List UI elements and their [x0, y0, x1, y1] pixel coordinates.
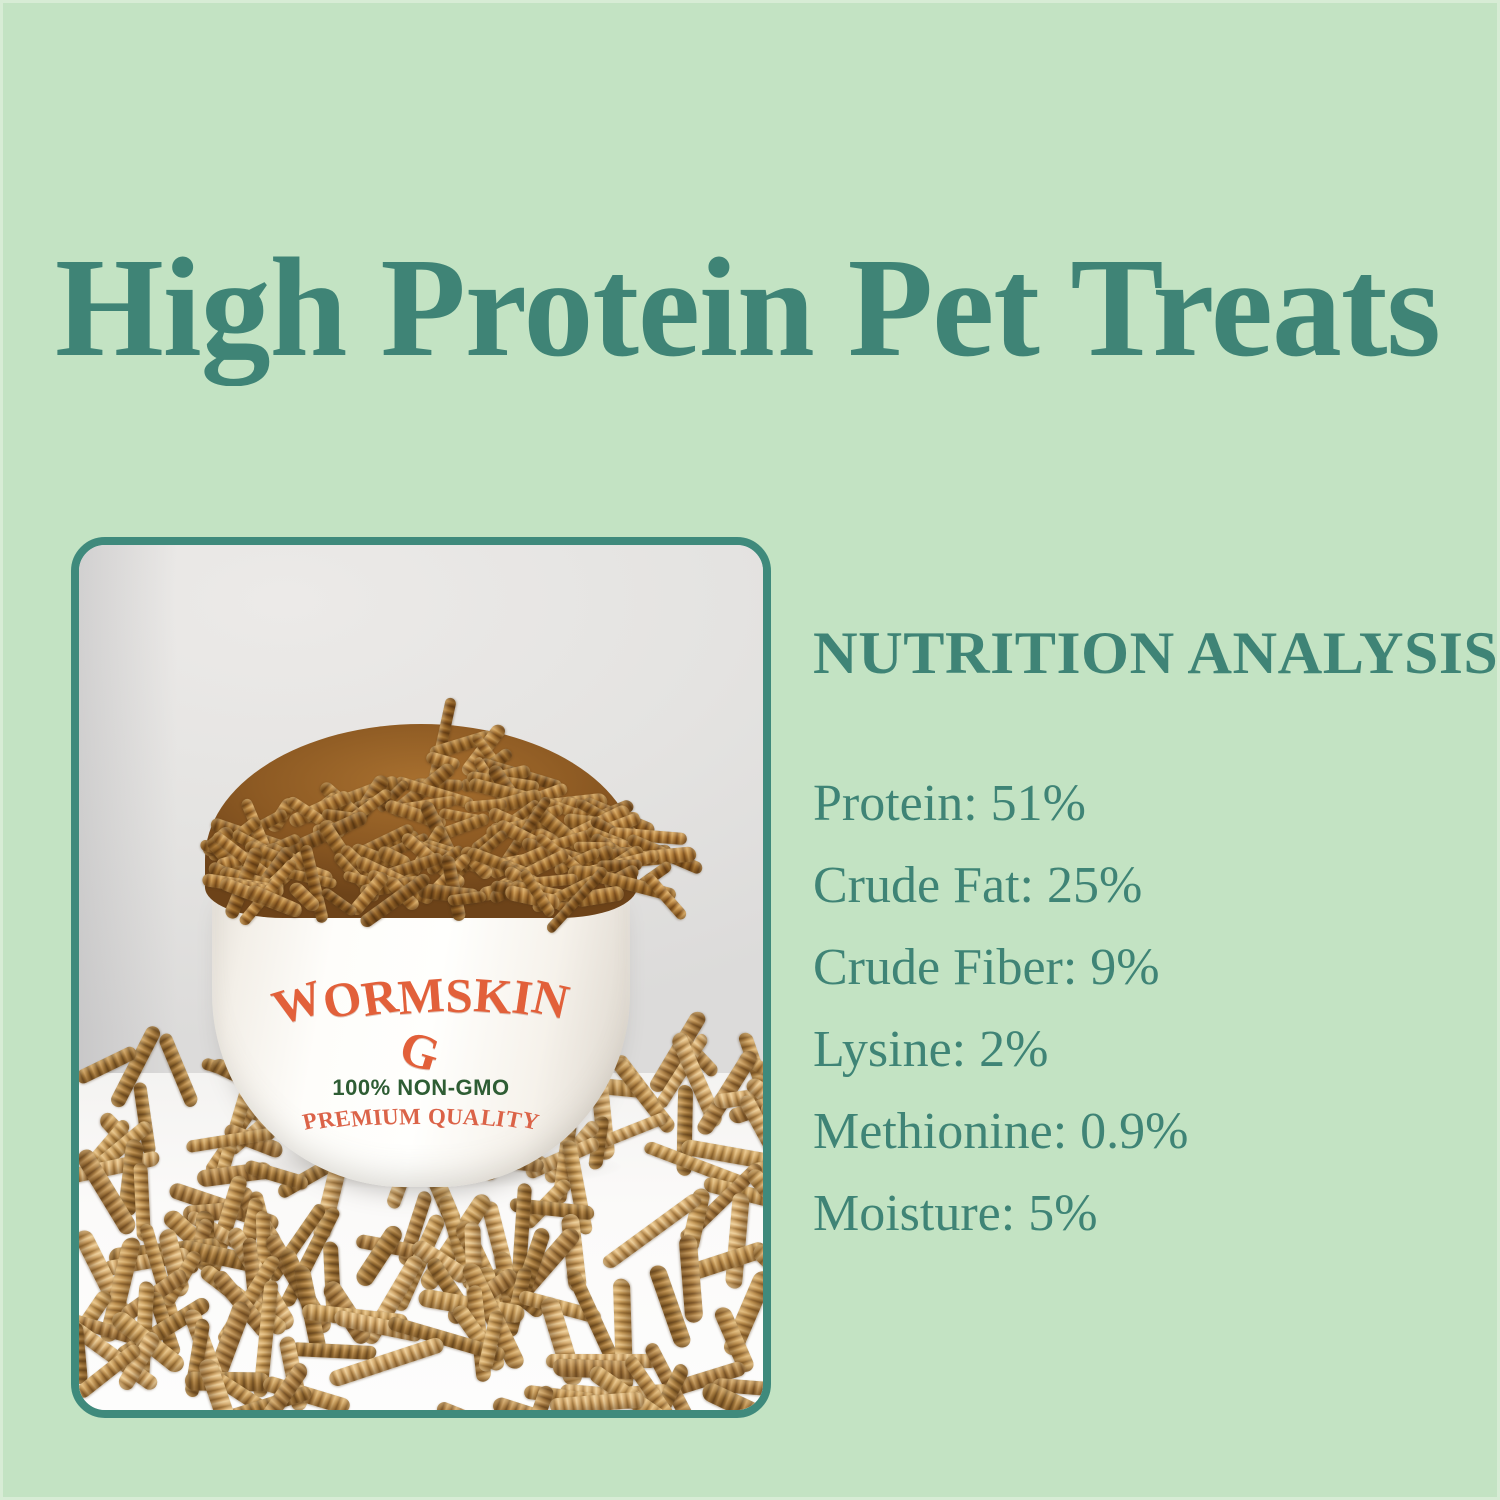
brand-name: WORMSKING — [256, 971, 586, 1069]
brand-quality-line: PREMIUM QUALITY — [256, 1104, 586, 1130]
brand-tagline: 100% NON-GMO — [256, 1075, 586, 1101]
nutrition-item: Methionine: 0.9% — [813, 1091, 1473, 1173]
nutrition-item: Protein: 51% — [813, 763, 1473, 845]
product-photo-frame: WORMSKING 100% NON-GMO PREMIUM QUALITY — [71, 537, 771, 1418]
product-infographic: High Protein Pet Treats WORMSKING 100% N… — [0, 0, 1500, 1500]
nutrition-item: Lysine: 2% — [813, 1009, 1473, 1091]
bowl-brand-label: WORMSKING 100% NON-GMO PREMIUM QUALITY — [256, 971, 586, 1130]
nutrition-heading: NUTRITION ANALYSIS — [813, 619, 1493, 688]
nutrition-panel: NUTRITION ANALYSIS Protein: 51%Crude Fat… — [813, 619, 1473, 1255]
photo-backdrop-shadow — [79, 545, 188, 1099]
mealworm — [288, 1342, 377, 1360]
nutrition-item: Crude Fat: 25% — [813, 845, 1473, 927]
mealworm-mound — [186, 695, 656, 905]
mealworm — [157, 1031, 199, 1109]
product-photo: WORMSKING 100% NON-GMO PREMIUM QUALITY — [79, 545, 763, 1410]
nutrition-item: Crude Fiber: 9% — [813, 927, 1473, 1009]
page-title: High Protein Pet Treats — [55, 236, 1444, 378]
nutrition-list: Protein: 51%Crude Fat: 25%Crude Fiber: 9… — [813, 763, 1473, 1255]
mealworm — [679, 1234, 704, 1324]
nutrition-item: Moisture: 5% — [813, 1173, 1473, 1255]
mealworm — [244, 1159, 309, 1191]
mealworm — [725, 1191, 750, 1290]
